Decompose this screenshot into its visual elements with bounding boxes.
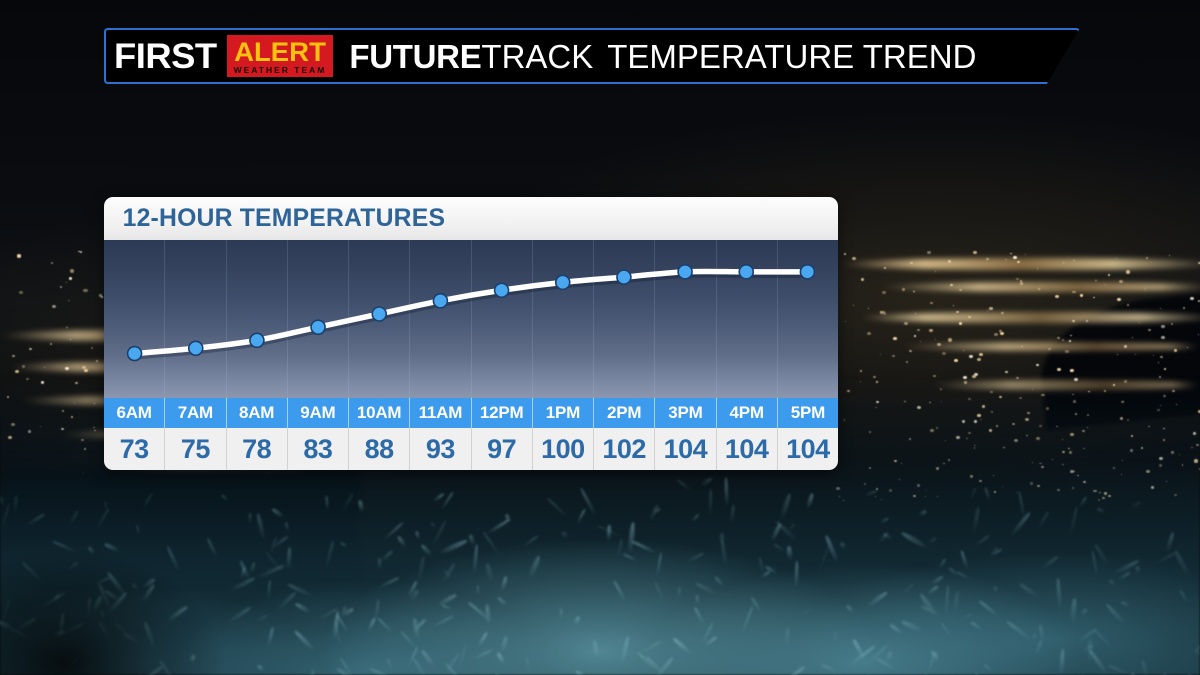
city-light-band bbox=[840, 258, 1200, 270]
title-future-text: FUTURE bbox=[349, 40, 481, 73]
hour-label-cell: 3PM bbox=[655, 398, 716, 428]
hour-label-cell: 9AM bbox=[288, 398, 349, 428]
temperature-data-point bbox=[495, 283, 509, 297]
banner-content: FIRST ALERT WEATHER TEAM FUTURE TRACK TE… bbox=[108, 32, 976, 80]
temperature-data-point bbox=[678, 265, 692, 279]
temperature-trend-card: 12-HOUR TEMPERATURES 6AM7AM8AM9AM10AM11A… bbox=[104, 197, 838, 470]
hour-label-cell: 1PM bbox=[533, 398, 594, 428]
temperature-data-point bbox=[128, 347, 142, 361]
temperature-value-cell: 75 bbox=[165, 428, 226, 470]
temperature-value-cell: 78 bbox=[227, 428, 288, 470]
temperature-data-point bbox=[311, 320, 325, 334]
first-alert-banner: FIRST ALERT WEATHER TEAM FUTURE TRACK TE… bbox=[108, 32, 976, 80]
hour-label-cell: 11AM bbox=[410, 398, 471, 428]
hour-label-cell: 6AM bbox=[104, 398, 165, 428]
title-temperature-trend-text: TEMPERATURE TREND bbox=[607, 40, 976, 73]
hour-label-cell: 4PM bbox=[717, 398, 778, 428]
temperature-data-point bbox=[800, 265, 814, 279]
temperature-line bbox=[135, 271, 808, 353]
temperature-data-point bbox=[189, 341, 203, 355]
temperature-value-cell: 93 bbox=[410, 428, 471, 470]
city-light-band bbox=[860, 312, 1200, 323]
card-title: 12-HOUR TEMPERATURES bbox=[123, 204, 446, 233]
temperature-value-cell: 73 bbox=[104, 428, 165, 470]
hour-label-cell: 2PM bbox=[594, 398, 655, 428]
temperature-value-row: 73757883889397100102104104104 bbox=[104, 428, 838, 470]
temperature-value-cell: 104 bbox=[717, 428, 778, 470]
temperature-data-point bbox=[739, 265, 753, 279]
temperature-value-cell: 100 bbox=[533, 428, 594, 470]
temperature-value-cell: 83 bbox=[288, 428, 349, 470]
temperature-value-cell: 104 bbox=[778, 428, 838, 470]
chart-svg bbox=[104, 240, 838, 398]
temperature-value-cell: 104 bbox=[655, 428, 716, 470]
hour-label-cell: 8AM bbox=[227, 398, 288, 428]
brand-first-text: FIRST bbox=[114, 39, 217, 74]
temperature-value-cell: 102 bbox=[594, 428, 655, 470]
card-header: 12-HOUR TEMPERATURES bbox=[104, 197, 838, 240]
temperature-data-point bbox=[433, 294, 447, 308]
temperature-value-cell: 88 bbox=[349, 428, 410, 470]
temperature-value-cell: 97 bbox=[472, 428, 533, 470]
hour-label-row: 6AM7AM8AM9AM10AM11AM12PM1PM2PM3PM4PM5PM bbox=[104, 398, 838, 428]
hour-label-cell: 12PM bbox=[472, 398, 533, 428]
temperature-data-point bbox=[372, 307, 386, 321]
city-light-band bbox=[880, 282, 1200, 292]
foreground-shadow bbox=[0, 445, 320, 675]
hour-label-cell: 5PM bbox=[778, 398, 838, 428]
temperature-line-chart bbox=[104, 240, 838, 398]
hour-label-cell: 10AM bbox=[349, 398, 410, 428]
temperature-data-point bbox=[556, 275, 570, 289]
temperature-data-point bbox=[250, 333, 264, 347]
hour-label-cell: 7AM bbox=[165, 398, 226, 428]
alert-badge: ALERT WEATHER TEAM bbox=[227, 35, 334, 77]
title-track-text: TRACK bbox=[481, 40, 593, 73]
alert-badge-word: ALERT bbox=[234, 39, 326, 65]
temperature-data-point bbox=[617, 270, 631, 284]
weather-graphic-stage: FIRST ALERT WEATHER TEAM FUTURE TRACK TE… bbox=[0, 0, 1200, 675]
